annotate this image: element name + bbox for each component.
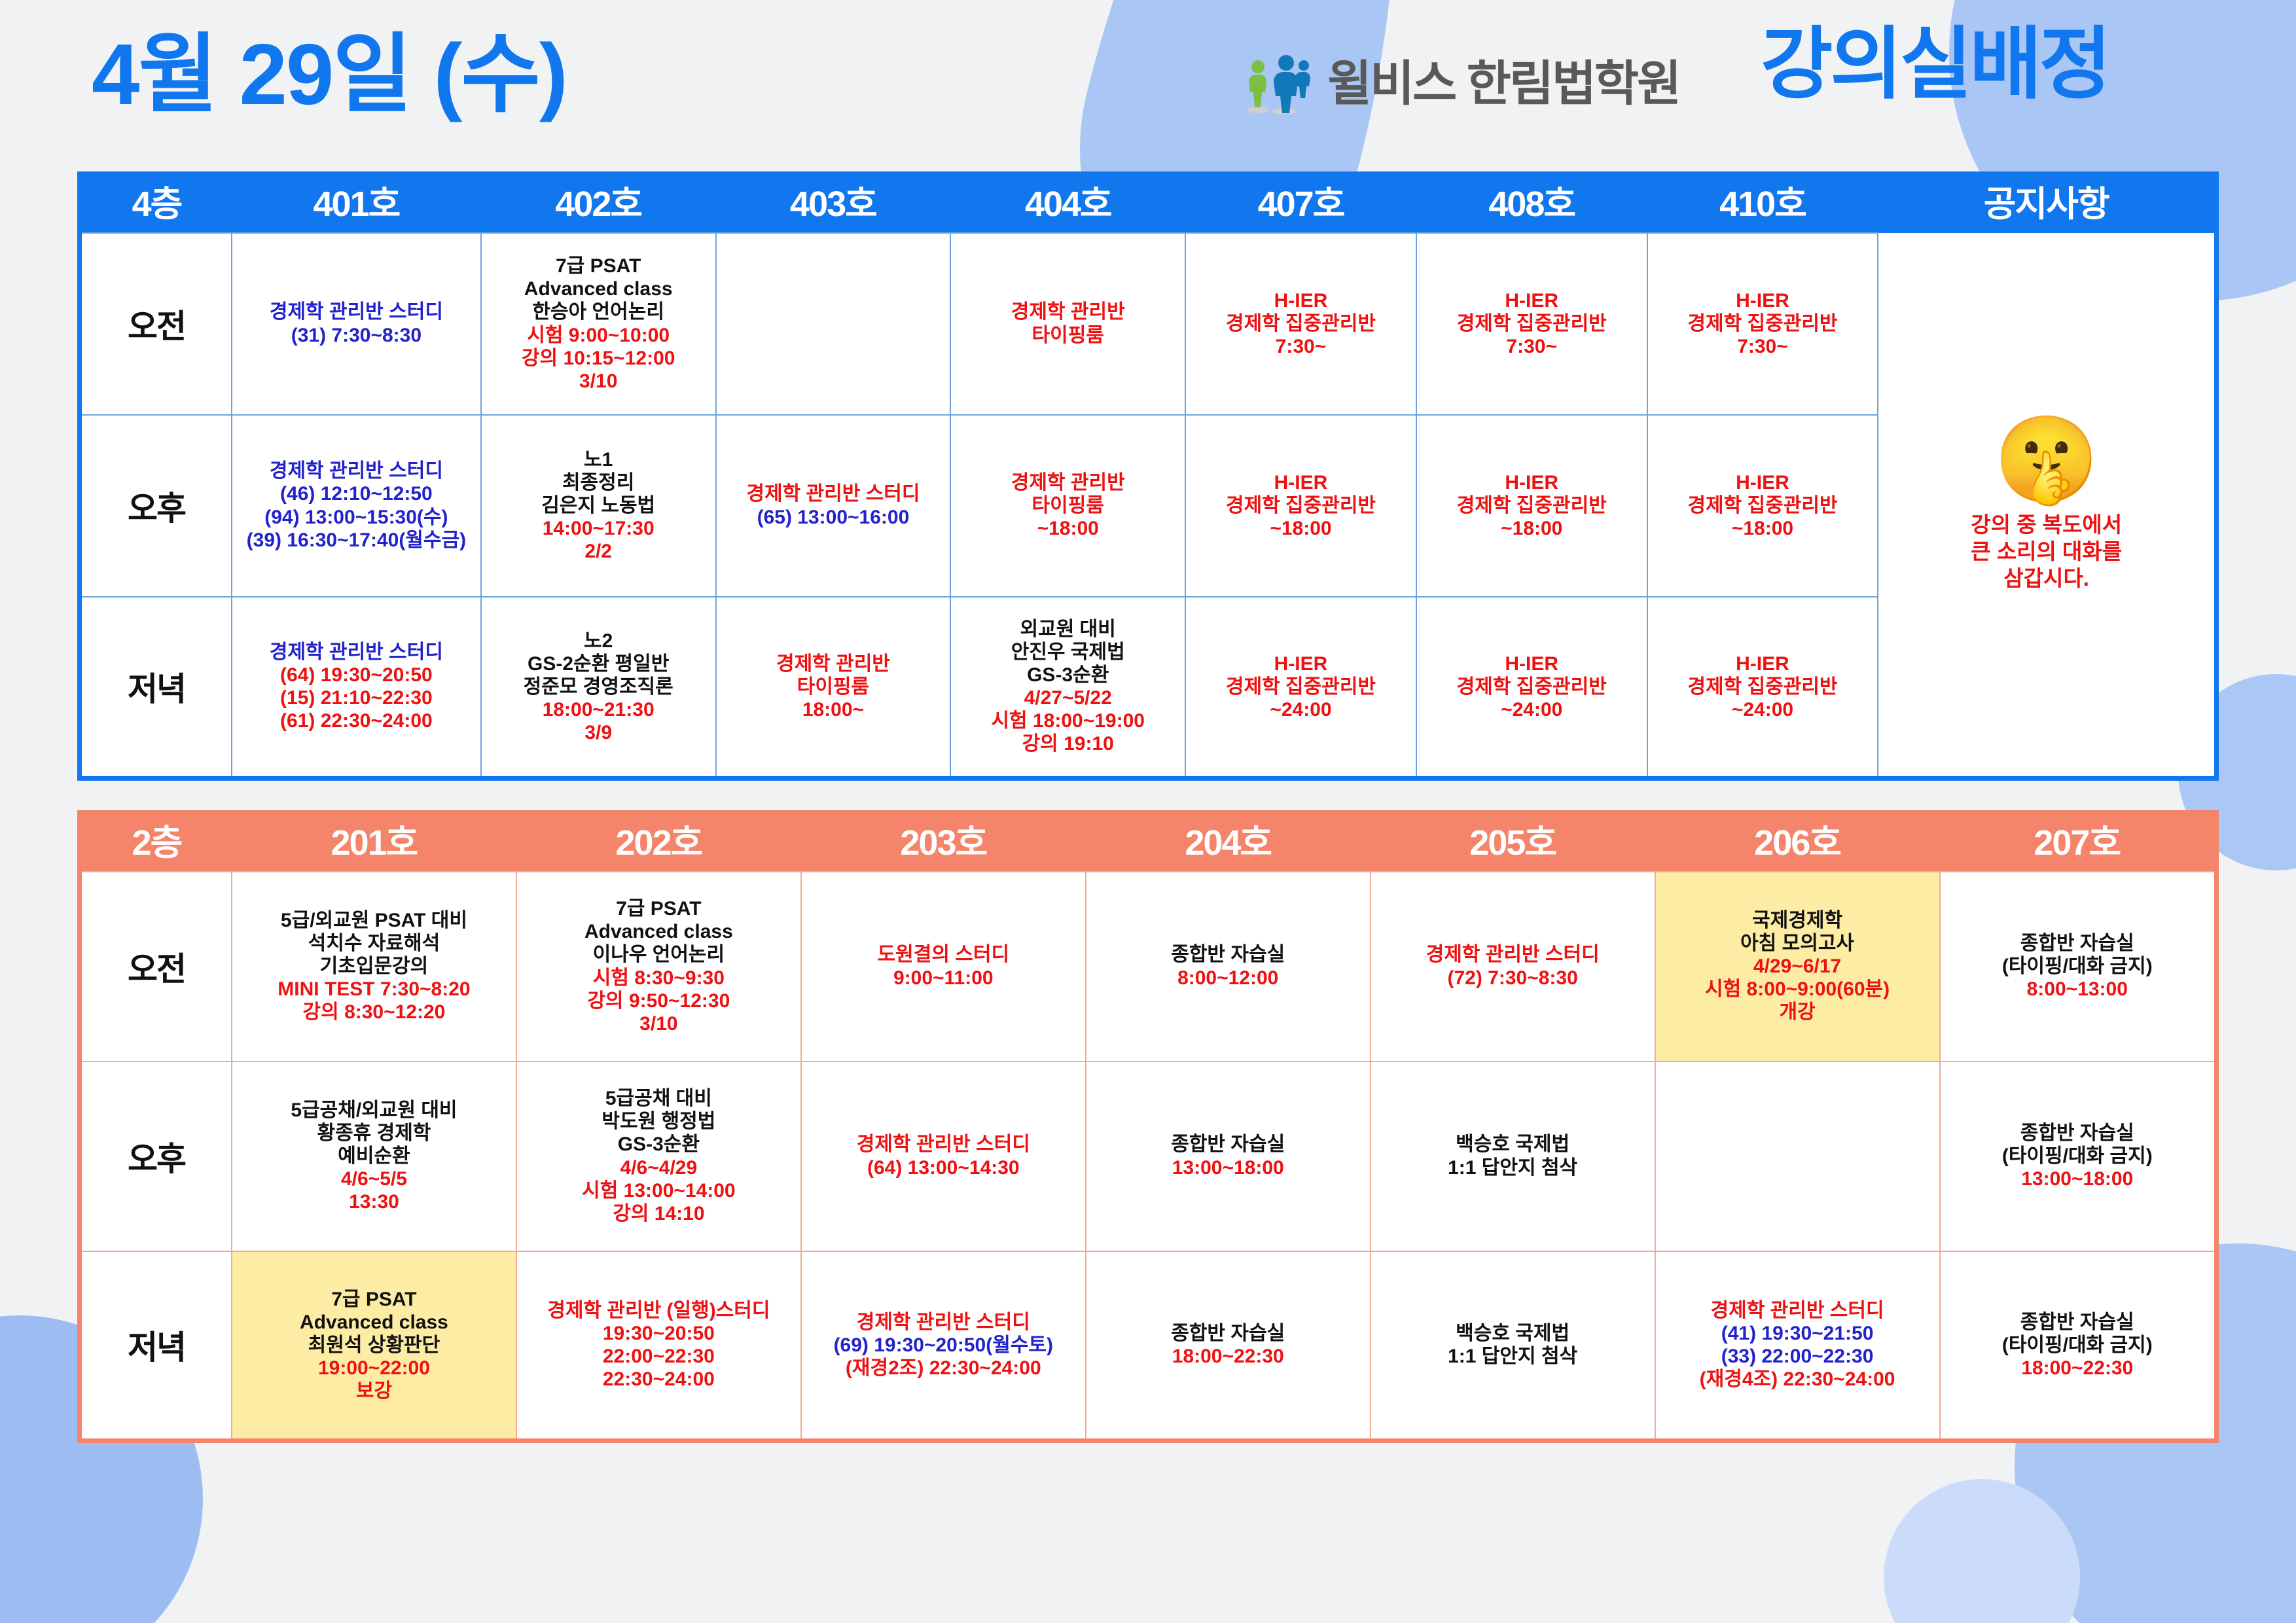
floor4-cell-r1-c6[interactable]: H-IER경제학 집중관리반~18:00 xyxy=(1647,415,1878,597)
schedule-entry-line: H-IER xyxy=(1190,289,1412,312)
brand-name: 윌비스 한림법학원 xyxy=(1327,60,1679,108)
schedule-entry-line: 9:00~11:00 xyxy=(806,967,1081,990)
schedule-entry-line: GS-2순환 평일반 xyxy=(486,652,711,675)
schedule-entry-line: 황종휴 경제학 xyxy=(236,1122,512,1145)
schedule-entry: H-IER경제학 집중관리반~18:00 xyxy=(1652,471,1874,540)
schedule-entry-line: 18:00~ xyxy=(721,698,946,721)
schedule-entry-line: 노2 xyxy=(486,630,711,652)
schedule-entry: 7급 PSATAdvanced class이나우 언어논리시험 8:30~9:3… xyxy=(521,897,797,1035)
floor4-cell-r2-c5[interactable]: H-IER경제학 집중관리반~24:00 xyxy=(1416,597,1647,779)
floor4-cell-r1-c4[interactable]: H-IER경제학 집중관리반~18:00 xyxy=(1185,415,1416,597)
floor4-row-label: 저녁 xyxy=(80,597,232,779)
schedule-entry-line: 노1 xyxy=(486,448,711,471)
schedule-entry-line: 19:00~22:00 xyxy=(236,1357,512,1380)
floor2-cell-r1-c3[interactable]: 종합반 자습실13:00~18:00 xyxy=(1086,1061,1371,1251)
floor4-cell-r1-c5[interactable]: H-IER경제학 집중관리반~18:00 xyxy=(1416,415,1647,597)
schedule-entry-line: (65) 13:00~16:00 xyxy=(721,506,946,529)
floor4-header-room-404: 404호 xyxy=(950,174,1185,233)
schedule-entry-line: 13:00~18:00 xyxy=(1945,1168,2210,1190)
schedule-entry: 종합반 자습실18:00~22:30 xyxy=(1090,1322,1366,1368)
schedule-entry-line: (재경4조) 22:30~24:00 xyxy=(1660,1368,1935,1391)
schedule-entry: 7급 PSATAdvanced class최원석 상황판단19:00~22:00… xyxy=(236,1288,512,1402)
schedule-entry-line: H-IER xyxy=(1421,289,1643,312)
floor4-cell-r1-c3[interactable]: 경제학 관리반타이핑룸~18:00 xyxy=(950,415,1185,597)
schedule-entry-line: 7급 PSAT xyxy=(521,897,797,920)
floor2-cell-r1-c1[interactable]: 5급공채 대비박도원 행정법GS-3순환4/6~4/29시험 13:00~14:… xyxy=(516,1061,801,1251)
schedule-entry-line: 8:00~12:00 xyxy=(1090,967,1366,990)
floor2-cell-r0-c1[interactable]: 7급 PSATAdvanced class이나우 언어논리시험 8:30~9:3… xyxy=(516,872,801,1061)
schedule-entry-line: (15) 21:10~22:30 xyxy=(236,687,476,709)
schedule-entry-line: 경제학 집중관리반 xyxy=(1190,312,1412,335)
floor4-cell-r1-c0[interactable]: 경제학 관리반 스터디(46) 12:10~12:50(94) 13:00~15… xyxy=(232,415,481,597)
schedule-entry-line: (31) 7:30~8:30 xyxy=(236,324,476,347)
schedule-entry-line: 경제학 관리반 (일행)스터디 xyxy=(521,1299,797,1322)
schedule-entry-line: 백승호 국제법 xyxy=(1375,1322,1651,1345)
schedule-entry-line: 아침 모의고사 xyxy=(1660,932,1935,955)
floor2-cell-r2-c4[interactable]: 백승호 국제법1:1 답안지 첨삭 xyxy=(1371,1251,1655,1441)
floor2-cell-r1-c6[interactable]: 종합반 자습실(타이핑/대화 금지)13:00~18:00 xyxy=(1940,1061,2217,1251)
schedule-entry-line: (39) 16:30~17:40(월수금) xyxy=(236,529,476,552)
schedule-entry-line: 타이핑룸 xyxy=(721,675,946,698)
schedule-entry-line: 경제학 집중관리반 xyxy=(1190,675,1412,698)
schedule-entry-line: 강의 9:50~12:30 xyxy=(521,990,797,1012)
schedule-entry: 5급/외교원 PSAT 대비석치수 자료해석기초입문강의MINI TEST 7:… xyxy=(236,909,512,1024)
schedule-entry: H-IER경제학 집중관리반~24:00 xyxy=(1421,652,1643,721)
page-date-title: 4월 29일 (수) xyxy=(92,31,567,118)
schedule-entry-line: (64) 19:30~20:50 xyxy=(236,664,476,687)
schedule-entry-line: ~18:00 xyxy=(1190,517,1412,540)
schedule-entry-line: 정준모 경영조직론 xyxy=(486,675,711,698)
schedule-entry-line: 경제학 관리반 스터디 xyxy=(806,1311,1081,1334)
notice-text-line: 큰 소리의 대화를 xyxy=(1971,538,2122,565)
schedule-entry-line: 시험 13:00~14:00 xyxy=(521,1179,797,1202)
floor2-cell-r0-c6[interactable]: 종합반 자습실(타이핑/대화 금지)8:00~13:00 xyxy=(1940,872,2217,1061)
schedule-entry: 5급공채/외교원 대비황종휴 경제학예비순환4/6~5/513:30 xyxy=(236,1099,512,1213)
floor2-cell-r2-c6[interactable]: 종합반 자습실(타이핑/대화 금지)18:00~22:30 xyxy=(1940,1251,2217,1441)
floor2-row-label: 저녁 xyxy=(80,1251,232,1441)
schedule-entry-line: 1:1 답안지 첨삭 xyxy=(1375,1345,1651,1368)
schedule-entry-line: 5급공채/외교원 대비 xyxy=(236,1099,512,1122)
floor2-cell-r2-c2[interactable]: 경제학 관리반 스터디(69) 19:30~20:50(월수토)(재경2조) 2… xyxy=(801,1251,1086,1441)
floor2-cell-r0-c2[interactable]: 도원결의 스터디9:00~11:00 xyxy=(801,872,1086,1061)
schedule-entry-line: (61) 22:30~24:00 xyxy=(236,709,476,732)
floor4-notice-cell: 🤫강의 중 복도에서큰 소리의 대화를삼갑시다. xyxy=(1878,233,2216,779)
schedule-entry-line: 종합반 자습실 xyxy=(1945,932,2210,955)
schedule-entry: 종합반 자습실(타이핑/대화 금지)13:00~18:00 xyxy=(1945,1122,2210,1190)
floor2-row-label: 오후 xyxy=(80,1061,232,1251)
page-header: 4월 29일 (수) 윌비스 한림법학원 강의실배정 xyxy=(0,0,2296,160)
schedule-entry-line: 최종정리 xyxy=(486,471,711,494)
schedule-entry-line: (69) 19:30~20:50(월수토) xyxy=(806,1334,1081,1357)
schedule-entry-line: 경제학 집중관리반 xyxy=(1421,675,1643,698)
schedule-entry: H-IER경제학 집중관리반~24:00 xyxy=(1190,652,1412,721)
schedule-entry-line: 국제경제학 xyxy=(1660,909,1935,932)
floor2-header-room-203: 203호 xyxy=(801,813,1086,872)
schedule-entry-line: 경제학 관리반 스터디 xyxy=(1375,943,1651,966)
schedule-entry-line: H-IER xyxy=(1652,652,1874,675)
schedule-entry-line: 경제학 관리반 스터디 xyxy=(236,300,476,323)
floor4-cell-r0-c0[interactable]: 경제학 관리반 스터디(31) 7:30~8:30 xyxy=(232,233,481,415)
schedule-entry-line: 강의 19:10 xyxy=(955,732,1181,755)
schedule-entry-line: 4/27~5/22 xyxy=(955,687,1181,709)
schedule-entry: 경제학 관리반타이핑룸 xyxy=(955,300,1181,346)
notice-text-line: 강의 중 복도에서 xyxy=(1971,511,2122,538)
schedule-entry-line: (72) 7:30~8:30 xyxy=(1375,967,1651,990)
schedule-entry: H-IER경제학 집중관리반~18:00 xyxy=(1421,471,1643,540)
floor2-cell-r2-c0[interactable]: 7급 PSATAdvanced class최원석 상황판단19:00~22:00… xyxy=(232,1251,516,1441)
schedule-entry-line: ~24:00 xyxy=(1421,698,1643,721)
schedule-entry: 경제학 관리반 스터디(31) 7:30~8:30 xyxy=(236,300,476,346)
schedule-entry-line: 타이핑룸 xyxy=(955,324,1181,347)
floor4-cell-r1-c2[interactable]: 경제학 관리반 스터디(65) 13:00~16:00 xyxy=(716,415,951,597)
schedule-entry: 노2GS-2순환 평일반정준모 경영조직론18:00~21:303/9 xyxy=(486,630,711,744)
schedule-entry: 경제학 관리반타이핑룸~18:00 xyxy=(955,471,1181,540)
schedule-entry-line: 보강 xyxy=(236,1380,512,1402)
floor2-cell-r0-c0[interactable]: 5급/외교원 PSAT 대비석치수 자료해석기초입문강의MINI TEST 7:… xyxy=(232,872,516,1061)
schedule-entry-line: 종합반 자습실 xyxy=(1090,1322,1366,1345)
brand-lockup: 윌비스 한림법학원 xyxy=(1244,52,1679,115)
floor2-header-room-207: 207호 xyxy=(1940,813,2217,872)
schedule-entry-line: 한승아 언어논리 xyxy=(486,300,711,323)
schedule-entry-line: 경제학 집중관리반 xyxy=(1652,675,1874,698)
floor4-row-0: 오전경제학 관리반 스터디(31) 7:30~8:307급 PSATAdvanc… xyxy=(80,233,2217,415)
schedule-entry-line: 경제학 집중관리반 xyxy=(1190,494,1412,517)
schedule-entry: 종합반 자습실8:00~12:00 xyxy=(1090,943,1366,989)
shushing-face-emoji: 🤫 xyxy=(1994,417,2100,502)
schedule-entry-line: 경제학 집중관리반 xyxy=(1421,312,1643,335)
schedule-entry-line: 18:00~22:30 xyxy=(1090,1345,1366,1368)
schedule-entry-line: 최원석 상황판단 xyxy=(236,1334,512,1357)
schedule-entry-line: 7:30~ xyxy=(1652,335,1874,358)
schedule-entry: 종합반 자습실13:00~18:00 xyxy=(1090,1133,1366,1179)
schedule-entry-line: GS-3순환 xyxy=(955,664,1181,687)
schedule-entry-line: 경제학 관리반 스터디 xyxy=(806,1133,1081,1156)
schedule-entry-line: (타이핑/대화 금지) xyxy=(1945,1145,2210,1168)
schedule-entry-line: 강의 10:15~12:00 xyxy=(486,347,711,370)
schedule-entry-line: ~24:00 xyxy=(1652,698,1874,721)
schedule-entry-line: (타이핑/대화 금지) xyxy=(1945,1334,2210,1357)
schedule-entry: H-IER경제학 집중관리반7:30~ xyxy=(1421,289,1643,358)
schedule-entry-line: 종합반 자습실 xyxy=(1090,1133,1366,1156)
floor4-schedule-table: 4층 401호 402호 403호 404호 407호 408호 410호 공지… xyxy=(77,171,2219,781)
schedule-entry-line: (46) 12:10~12:50 xyxy=(236,482,476,505)
floor4-header-room-402: 402호 xyxy=(481,174,716,233)
schedule-entry: H-IER경제학 집중관리반7:30~ xyxy=(1652,289,1874,358)
schedule-entry-line: 외교원 대비 xyxy=(955,618,1181,641)
schedule-entry-line: 5급공채 대비 xyxy=(521,1087,797,1110)
schedule-entry: 경제학 관리반 스터디(72) 7:30~8:30 xyxy=(1375,943,1651,989)
floor2-header-room-202: 202호 xyxy=(516,813,801,872)
floor2-cell-r0-c3[interactable]: 종합반 자습실8:00~12:00 xyxy=(1086,872,1371,1061)
floor2-header-room-206: 206호 xyxy=(1655,813,1940,872)
schedule-entry-line: 시험 8:30~9:30 xyxy=(521,967,797,990)
schedule-entry-line: 4/6~5/5 xyxy=(236,1168,512,1190)
schedule-entry-line: 박도원 행정법 xyxy=(521,1110,797,1133)
floor4-cell-r2-c0[interactable]: 경제학 관리반 스터디(64) 19:30~20:50(15) 21:10~22… xyxy=(232,597,481,779)
floor4-header-row: 4층 401호 402호 403호 404호 407호 408호 410호 공지… xyxy=(80,174,2217,233)
floor4-header-room-410: 410호 xyxy=(1647,174,1878,233)
schedule-entry-line: ~18:00 xyxy=(955,517,1181,540)
schedule-entry-line: H-IER xyxy=(1190,652,1412,675)
schedule-entry-line: 3/9 xyxy=(486,721,711,744)
schedule-entry-line: (33) 22:00~22:30 xyxy=(1660,1345,1935,1368)
schedule-entry-line: 백승호 국제법 xyxy=(1375,1133,1651,1156)
schedule-entry-line: 경제학 집중관리반 xyxy=(1652,494,1874,517)
schedule-entry: 경제학 관리반 스터디(64) 19:30~20:50(15) 21:10~22… xyxy=(236,641,476,732)
schedule-entry-line: ~18:00 xyxy=(1652,517,1874,540)
schedule-entry-line: 안진우 국제법 xyxy=(955,641,1181,664)
floor4-cell-r0-c4[interactable]: H-IER경제학 집중관리반7:30~ xyxy=(1185,233,1416,415)
schedule-entry: 경제학 관리반 스터디(69) 19:30~20:50(월수토)(재경2조) 2… xyxy=(806,1311,1081,1380)
page-title: 강의실배정 xyxy=(1761,25,2109,103)
schedule-entry: 노1최종정리김은지 노동법14:00~17:302/2 xyxy=(486,448,711,563)
schedule-entry: 경제학 관리반 스터디(64) 13:00~14:30 xyxy=(806,1133,1081,1179)
schedule-entry-line: 14:00~17:30 xyxy=(486,517,711,540)
schedule-entry-line: ~18:00 xyxy=(1421,517,1643,540)
wilbis-people-logo-icon xyxy=(1244,52,1316,115)
floor4-row-label: 오전 xyxy=(80,233,232,415)
schedule-entry-line: 19:30~20:50 xyxy=(521,1322,797,1345)
floor2-header-floor: 2층 xyxy=(80,813,232,872)
schedule-entry-line: 경제학 관리반 xyxy=(721,652,946,675)
floor4-cell-r0-c1[interactable]: 7급 PSATAdvanced class한승아 언어논리시험 9:00~10:… xyxy=(481,233,716,415)
schedule-entry-line: 7급 PSAT xyxy=(236,1288,512,1311)
floor4-cell-r2-c2[interactable]: 경제학 관리반타이핑룸18:00~ xyxy=(716,597,951,779)
schedule-entry: 7급 PSATAdvanced class한승아 언어논리시험 9:00~10:… xyxy=(486,255,711,393)
schedule-entry: 종합반 자습실(타이핑/대화 금지)8:00~13:00 xyxy=(1945,932,2210,1001)
schedule-entry-line: 경제학 관리반 xyxy=(955,471,1181,494)
schedule-entry-line: 경제학 관리반 xyxy=(955,300,1181,323)
notice-text: 강의 중 복도에서큰 소리의 대화를삼갑시다. xyxy=(1971,511,2122,592)
floor4-cell-r0-c3[interactable]: 경제학 관리반타이핑룸 xyxy=(950,233,1185,415)
schedule-entry: 백승호 국제법1:1 답안지 첨삭 xyxy=(1375,1322,1651,1368)
schedule-entry: 도원결의 스터디9:00~11:00 xyxy=(806,943,1081,989)
background-blob-bottom-right-small xyxy=(1884,1479,2080,1623)
floor2-schedule-table: 2층 201호 202호 203호 204호 205호 206호 207호 오전… xyxy=(77,810,2219,1443)
floor2-cell-r2-c3[interactable]: 종합반 자습실18:00~22:30 xyxy=(1086,1251,1371,1441)
schedule-entry-line: 예비순환 xyxy=(236,1145,512,1168)
schedule-entry-line: 석치수 자료해석 xyxy=(236,932,512,955)
schedule-entry-line: 강의 8:30~12:20 xyxy=(236,1001,512,1024)
schedule-entry-line: 기초입문강의 xyxy=(236,955,512,978)
floor2-row-1: 오후5급공채/외교원 대비황종휴 경제학예비순환4/6~5/513:305급공채… xyxy=(80,1061,2217,1251)
schedule-entry-line: 김은지 노동법 xyxy=(486,494,711,517)
schedule-entry: 종합반 자습실(타이핑/대화 금지)18:00~22:30 xyxy=(1945,1311,2210,1380)
floor2-row-0: 오전5급/외교원 PSAT 대비석치수 자료해석기초입문강의MINI TEST … xyxy=(80,872,2217,1061)
floor4-header-floor: 4층 xyxy=(80,174,232,233)
floor4-cell-r2-c1[interactable]: 노2GS-2순환 평일반정준모 경영조직론18:00~21:303/9 xyxy=(481,597,716,779)
schedule-entry-line: 8:00~13:00 xyxy=(1945,978,2210,1001)
schedule-entry-line: 13:30 xyxy=(236,1190,512,1213)
floor2-header-room-201: 201호 xyxy=(232,813,516,872)
schedule-entry-line: 경제학 집중관리반 xyxy=(1652,312,1874,335)
floor4-cell-r0-c2[interactable] xyxy=(716,233,951,415)
floor4-row-label: 오후 xyxy=(80,415,232,597)
schedule-entry: 외교원 대비안진우 국제법GS-3순환4/27~5/22시험 18:00~19:… xyxy=(955,618,1181,756)
schedule-entry: 경제학 관리반 (일행)스터디19:30~20:5022:00~22:3022:… xyxy=(521,1299,797,1391)
schedule-entry-line: 2/2 xyxy=(486,540,711,563)
schedule-entry: H-IER경제학 집중관리반~24:00 xyxy=(1652,652,1874,721)
schedule-entry-line: H-IER xyxy=(1190,471,1412,494)
schedule-entry-line: (타이핑/대화 금지) xyxy=(1945,955,2210,978)
floor2-cell-r2-c5[interactable]: 경제학 관리반 스터디(41) 19:30~21:50(33) 22:00~22… xyxy=(1655,1251,1940,1441)
floor4-cell-r0-c6[interactable]: H-IER경제학 집중관리반7:30~ xyxy=(1647,233,1878,415)
floor2-cell-r0-c4[interactable]: 경제학 관리반 스터디(72) 7:30~8:30 xyxy=(1371,872,1655,1061)
floor4-body: 오전경제학 관리반 스터디(31) 7:30~8:307급 PSATAdvanc… xyxy=(80,233,2217,779)
schedule-entry: 경제학 관리반 스터디(41) 19:30~21:50(33) 22:00~22… xyxy=(1660,1299,1935,1391)
schedule-entry-line: H-IER xyxy=(1421,471,1643,494)
schedule-entry-line: 경제학 관리반 스터디 xyxy=(721,482,946,505)
schedule-entry-line: 4/29~6/17 xyxy=(1660,955,1935,978)
schedule-entry-line: 1:1 답안지 첨삭 xyxy=(1375,1156,1651,1179)
floor4-header-room-407: 407호 xyxy=(1185,174,1416,233)
schedule-entry-line: MINI TEST 7:30~8:20 xyxy=(236,978,512,1001)
schedule-entry-line: Advanced class xyxy=(486,277,711,300)
schedule-entry-line: 4/6~4/29 xyxy=(521,1156,797,1179)
schedule-entry-line: 22:00~22:30 xyxy=(521,1345,797,1368)
floor2-header-room-205: 205호 xyxy=(1371,813,1655,872)
schedule-entry-line: 7급 PSAT xyxy=(486,255,711,277)
floor4-header-notice: 공지사항 xyxy=(1878,174,2216,233)
schedule-entry-line: (64) 13:00~14:30 xyxy=(806,1156,1081,1179)
schedule-entry-line: 이나우 언어논리 xyxy=(521,943,797,966)
schedule-entry-line: 3/10 xyxy=(521,1012,797,1035)
schedule-entry: H-IER경제학 집중관리반~18:00 xyxy=(1190,471,1412,540)
schedule-entry-line: H-IER xyxy=(1652,471,1874,494)
schedule-entry-line: 시험 18:00~19:00 xyxy=(955,709,1181,732)
schedule-entry-line: 시험 9:00~10:00 xyxy=(486,324,711,347)
schedule-entry-line: 7:30~ xyxy=(1421,335,1643,358)
schedule-entry-line: 타이핑룸 xyxy=(955,494,1181,517)
schedule-entry-line: H-IER xyxy=(1421,652,1643,675)
schedule-entry: 경제학 관리반 스터디(46) 12:10~12:50(94) 13:00~15… xyxy=(236,459,476,551)
floor4-cell-r1-c1[interactable]: 노1최종정리김은지 노동법14:00~17:302/2 xyxy=(481,415,716,597)
floor2-row-2: 저녁7급 PSATAdvanced class최원석 상황판단19:00~22:… xyxy=(80,1251,2217,1441)
schedule-entry-line: 18:00~21:30 xyxy=(486,698,711,721)
schedule-entry-line: (재경2조) 22:30~24:00 xyxy=(806,1357,1081,1380)
floor2-cell-r1-c2[interactable]: 경제학 관리반 스터디(64) 13:00~14:30 xyxy=(801,1061,1086,1251)
schedule-entry-line: (41) 19:30~21:50 xyxy=(1660,1322,1935,1345)
schedule-entry-line: H-IER xyxy=(1652,289,1874,312)
schedule-entry-line: 7:30~ xyxy=(1190,335,1412,358)
floor2-cell-r1-c5[interactable] xyxy=(1655,1061,1940,1251)
floor4-cell-r0-c5[interactable]: H-IER경제학 집중관리반7:30~ xyxy=(1416,233,1647,415)
schedule-entry-line: ~24:00 xyxy=(1190,698,1412,721)
schedule-entry-line: 경제학 관리반 스터디 xyxy=(236,459,476,482)
floor2-cell-r1-c0[interactable]: 5급공채/외교원 대비황종휴 경제학예비순환4/6~5/513:30 xyxy=(232,1061,516,1251)
floor2-cell-r0-c5[interactable]: 국제경제학아침 모의고사4/29~6/17시험 8:00~9:00(60분)개강 xyxy=(1655,872,1940,1061)
schedule-entry-line: 22:30~24:00 xyxy=(521,1368,797,1391)
schedule-entry-line: 13:00~18:00 xyxy=(1090,1156,1366,1179)
schedule-entry-line: 18:00~22:30 xyxy=(1945,1357,2210,1380)
floor4-cell-r2-c4[interactable]: H-IER경제학 집중관리반~24:00 xyxy=(1185,597,1416,779)
schedule-entry-line: 종합반 자습실 xyxy=(1090,943,1366,966)
schedule-entry: H-IER경제학 집중관리반7:30~ xyxy=(1190,289,1412,358)
schedule-entry-line: 도원결의 스터디 xyxy=(806,943,1081,966)
floor4-cell-r2-c3[interactable]: 외교원 대비안진우 국제법GS-3순환4/27~5/22시험 18:00~19:… xyxy=(950,597,1185,779)
schedule-entry: 경제학 관리반타이핑룸18:00~ xyxy=(721,652,946,721)
schedule-entry: 백승호 국제법1:1 답안지 첨삭 xyxy=(1375,1133,1651,1179)
schedule-entry-line: 시험 8:00~9:00(60분) xyxy=(1660,978,1935,1001)
floor2-header-row: 2층 201호 202호 203호 204호 205호 206호 207호 xyxy=(80,813,2217,872)
schedule-entry: 경제학 관리반 스터디(65) 13:00~16:00 xyxy=(721,482,946,528)
floor2-body: 오전5급/외교원 PSAT 대비석치수 자료해석기초입문강의MINI TEST … xyxy=(80,872,2217,1441)
floor4-header-room-408: 408호 xyxy=(1416,174,1647,233)
floor4-cell-r2-c6[interactable]: H-IER경제학 집중관리반~24:00 xyxy=(1647,597,1878,779)
schedule-entry-line: 강의 14:10 xyxy=(521,1202,797,1225)
schedule-entry-line: 경제학 관리반 스터디 xyxy=(236,641,476,664)
floor2-cell-r2-c1[interactable]: 경제학 관리반 (일행)스터디19:30~20:5022:00~22:3022:… xyxy=(516,1251,801,1441)
schedule-entry-line: 종합반 자습실 xyxy=(1945,1122,2210,1145)
floor2-cell-r1-c4[interactable]: 백승호 국제법1:1 답안지 첨삭 xyxy=(1371,1061,1655,1251)
floor2-row-label: 오전 xyxy=(80,872,232,1061)
schedule-entry-line: (94) 13:00~15:30(수) xyxy=(236,506,476,529)
schedule-entry: 5급공채 대비박도원 행정법GS-3순환4/6~4/29시험 13:00~14:… xyxy=(521,1087,797,1225)
schedule-entry-line: 경제학 관리반 스터디 xyxy=(1660,1299,1935,1322)
floor4-header-room-401: 401호 xyxy=(232,174,481,233)
schedule-entry: 국제경제학아침 모의고사4/29~6/17시험 8:00~9:00(60분)개강 xyxy=(1660,909,1935,1024)
floor4-header-room-403: 403호 xyxy=(716,174,951,233)
schedule-entry-line: 5급/외교원 PSAT 대비 xyxy=(236,909,512,932)
schedule-entry-line: 경제학 집중관리반 xyxy=(1421,494,1643,517)
schedule-entry-line: GS-3순환 xyxy=(521,1133,797,1156)
notice-text-line: 삼갑시다. xyxy=(1971,565,2122,592)
schedule-entry-line: 종합반 자습실 xyxy=(1945,1311,2210,1334)
schedule-entry-line: 3/10 xyxy=(486,370,711,393)
notice-content: 🤫강의 중 복도에서큰 소리의 대화를삼갑시다. xyxy=(1882,417,2210,592)
schedule-entry-line: Advanced class xyxy=(521,920,797,943)
schedule-entry-line: Advanced class xyxy=(236,1311,512,1334)
floor2-header-room-204: 204호 xyxy=(1086,813,1371,872)
schedule-entry-line: 개강 xyxy=(1660,1001,1935,1024)
